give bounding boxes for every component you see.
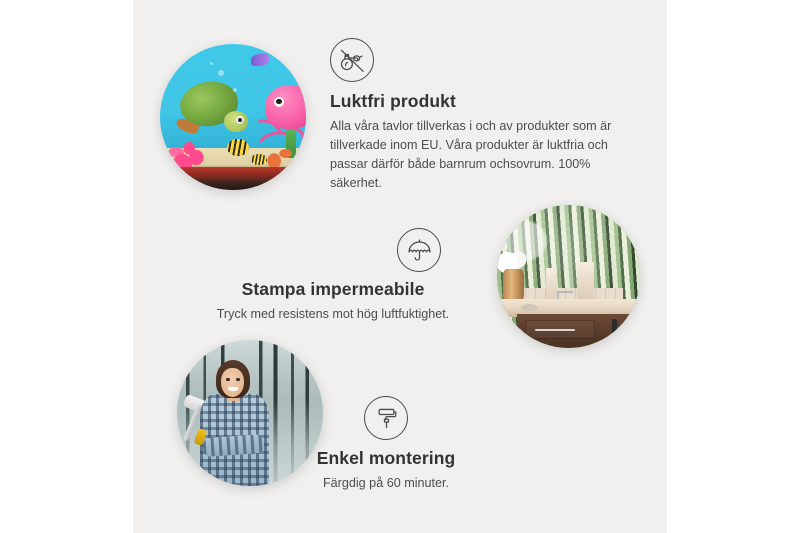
- towel: [577, 262, 594, 302]
- octopus-head: [265, 85, 306, 129]
- feature-body: Färgdig på 60 minuter.: [286, 474, 486, 493]
- towel: [546, 268, 557, 299]
- photo-bathroom: [497, 205, 640, 348]
- no-scent-spray-bottle-icon: [330, 38, 374, 82]
- feature-title: Enkel montering: [286, 448, 486, 469]
- face: [221, 368, 244, 397]
- turtle-eye: [236, 116, 244, 124]
- photo-ocean: [160, 44, 306, 190]
- fish-yellow-small: [251, 154, 267, 166]
- door-handle: [612, 319, 617, 340]
- octopus-eye: [274, 97, 284, 107]
- soap-dish: [521, 304, 538, 311]
- icon-row: [286, 396, 486, 440]
- ocean-room-preview: [172, 167, 295, 190]
- umbrella-icon: [397, 228, 441, 272]
- eye: [236, 378, 240, 381]
- feature-title: Luktfri produkt: [330, 91, 622, 112]
- feature-easy-mounting: Enkel montering Färgdig på 60 minuter.: [286, 396, 486, 493]
- promo-banner: Luktfri produkt Alla våra tavlor tillver…: [0, 0, 800, 533]
- eye: [226, 378, 230, 381]
- drawer-handle: [535, 329, 574, 330]
- feature-waterproof: Stampa impermeabile Tryck med resistens …: [188, 228, 478, 324]
- paint-roller-icon: [364, 396, 408, 440]
- feature-body: Alla våra tavlor tillverkas i och av pro…: [330, 117, 622, 194]
- vanity-cabinet: [517, 314, 640, 348]
- feature-body: Tryck med resistens mot hög luftfuktighe…: [188, 305, 478, 324]
- feature-title: Stampa impermeabile: [188, 279, 478, 300]
- icon-row: [188, 228, 478, 272]
- feature-scent-free: Luktfri produkt Alla våra tavlor tillver…: [330, 38, 622, 194]
